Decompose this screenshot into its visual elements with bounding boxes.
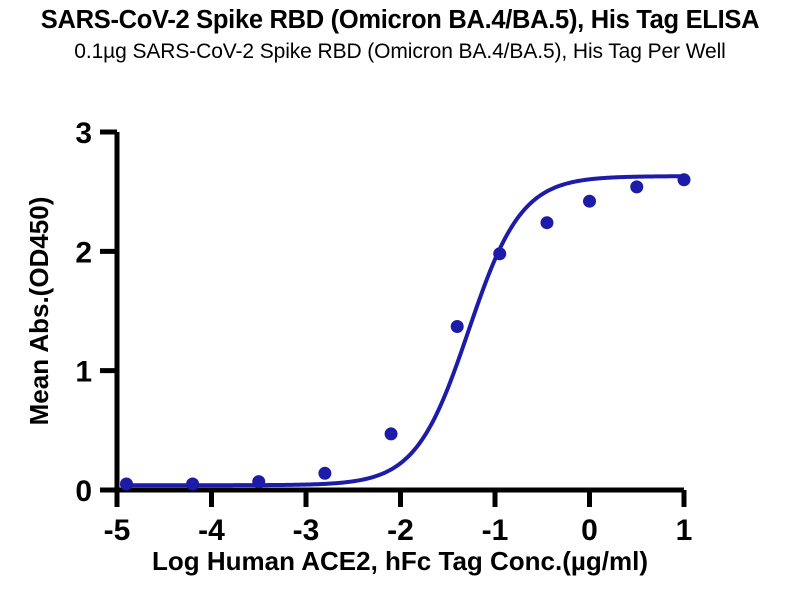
data-point: [451, 321, 463, 333]
data-point: [494, 248, 506, 260]
data-point: [541, 217, 553, 229]
y-axis-ticks: [100, 132, 117, 490]
data-point: [319, 467, 331, 479]
data-point: [385, 428, 397, 440]
y-axis-title: Mean Abs.(OD450): [24, 197, 54, 426]
sigmoid-fit-curve: [126, 176, 684, 485]
x-axis-title: Log Human ACE2, hFc Tag Conc.(µg/ml): [152, 546, 648, 576]
y-tick-label: 1: [75, 356, 92, 389]
data-point: [631, 181, 643, 193]
data-point: [187, 478, 199, 490]
data-point: [120, 478, 132, 490]
data-point: [253, 476, 265, 488]
axis-group: [117, 132, 684, 490]
x-tick-label: -1: [482, 514, 509, 547]
y-axis-tick-labels: 0123: [75, 117, 92, 508]
x-tick-label: -4: [198, 514, 225, 547]
x-tick-label: 1: [676, 514, 693, 547]
y-tick-label: 3: [75, 117, 92, 150]
x-tick-label: -3: [293, 514, 320, 547]
x-axis-ticks: [117, 490, 684, 507]
data-point: [678, 174, 690, 186]
data-point-markers: [120, 174, 690, 490]
y-tick-label: 2: [75, 236, 92, 269]
x-axis-tick-labels: -5-4-3-2-101: [104, 514, 693, 547]
y-tick-label: 0: [75, 475, 92, 508]
data-point: [584, 195, 596, 207]
x-tick-label: 0: [581, 514, 598, 547]
x-tick-label: -5: [104, 514, 131, 547]
chart-plot-area: 0123 -5-4-3-2-101 Log Human ACE2, hFc Ta…: [0, 0, 800, 600]
x-tick-label: -2: [387, 514, 414, 547]
elisa-chart-figure: SARS-CoV-2 Spike RBD (Omicron BA.4/BA.5)…: [0, 0, 800, 600]
